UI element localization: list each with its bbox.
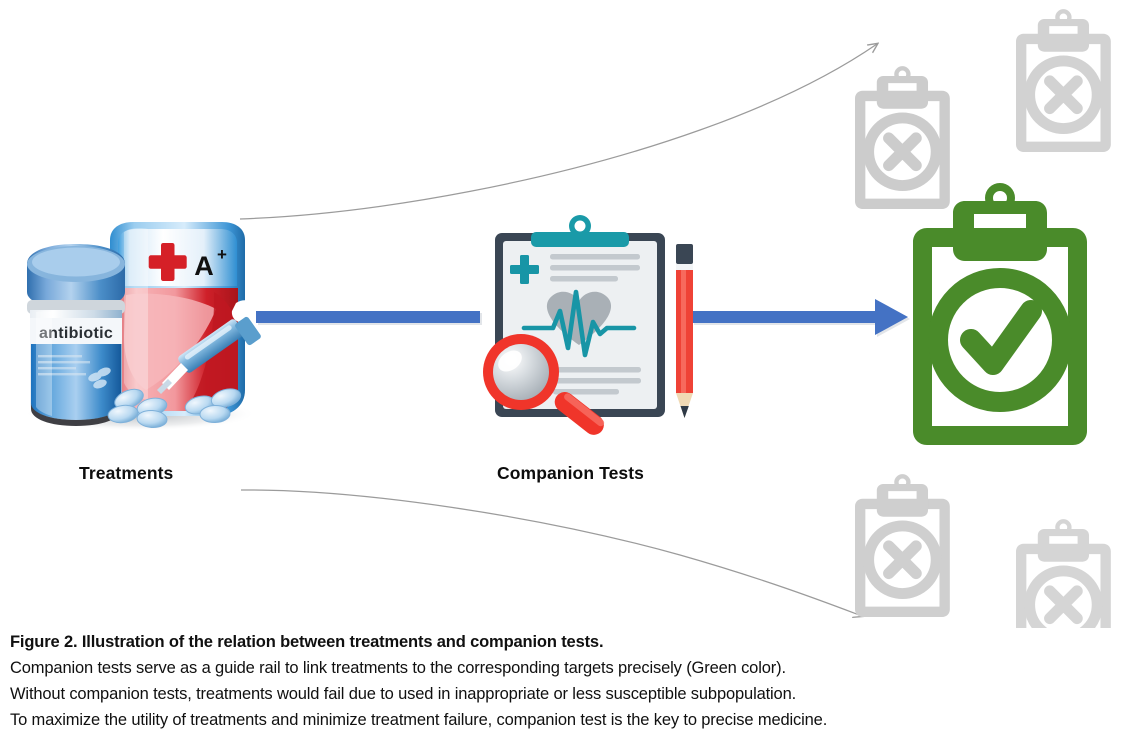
treatments-illustration: A + xyxy=(24,222,262,431)
companion-test-illustration xyxy=(483,215,693,439)
iv-blood-bag-icon: A + xyxy=(110,222,245,416)
treatments-label: Treatments xyxy=(79,463,173,484)
caption-title: Figure 2. Illustration of the relation b… xyxy=(10,630,1120,655)
antibiotic-bottle-icon: antibiotic xyxy=(27,244,125,426)
lower-guide-rail xyxy=(241,490,862,616)
caption-line-1: Companion tests serve as a guide rail to… xyxy=(10,655,1120,681)
treatments-to-companion-arrow xyxy=(256,311,482,325)
clipboard-clip-icon xyxy=(531,215,629,247)
clipboard-x-bottom-left-icon xyxy=(855,476,950,617)
pencil-icon xyxy=(676,244,693,418)
clipboard-x-top-right-icon xyxy=(1016,11,1111,152)
figure-container: A + xyxy=(0,0,1130,752)
caption-line-2: Without companion tests, treatments woul… xyxy=(10,681,1120,707)
upper-guide-rail xyxy=(240,44,877,219)
blood-type-sign: + xyxy=(217,245,227,264)
diagram-svg: A + xyxy=(0,0,1130,628)
diagram-area: A + xyxy=(0,0,1130,628)
clipboard-x-bottom-right-icon xyxy=(1016,521,1111,628)
companion-tests-label: Companion Tests xyxy=(497,463,644,484)
clipboard-x-top-left-icon xyxy=(855,68,950,209)
clipboard-check-icon xyxy=(913,187,1087,445)
figure-caption: Figure 2. Illustration of the relation b… xyxy=(10,630,1120,733)
caption-line-3: To maximize the utility of treatments an… xyxy=(10,707,1120,733)
blood-type-letter: A xyxy=(194,251,214,281)
companion-to-result-arrow xyxy=(692,299,910,337)
